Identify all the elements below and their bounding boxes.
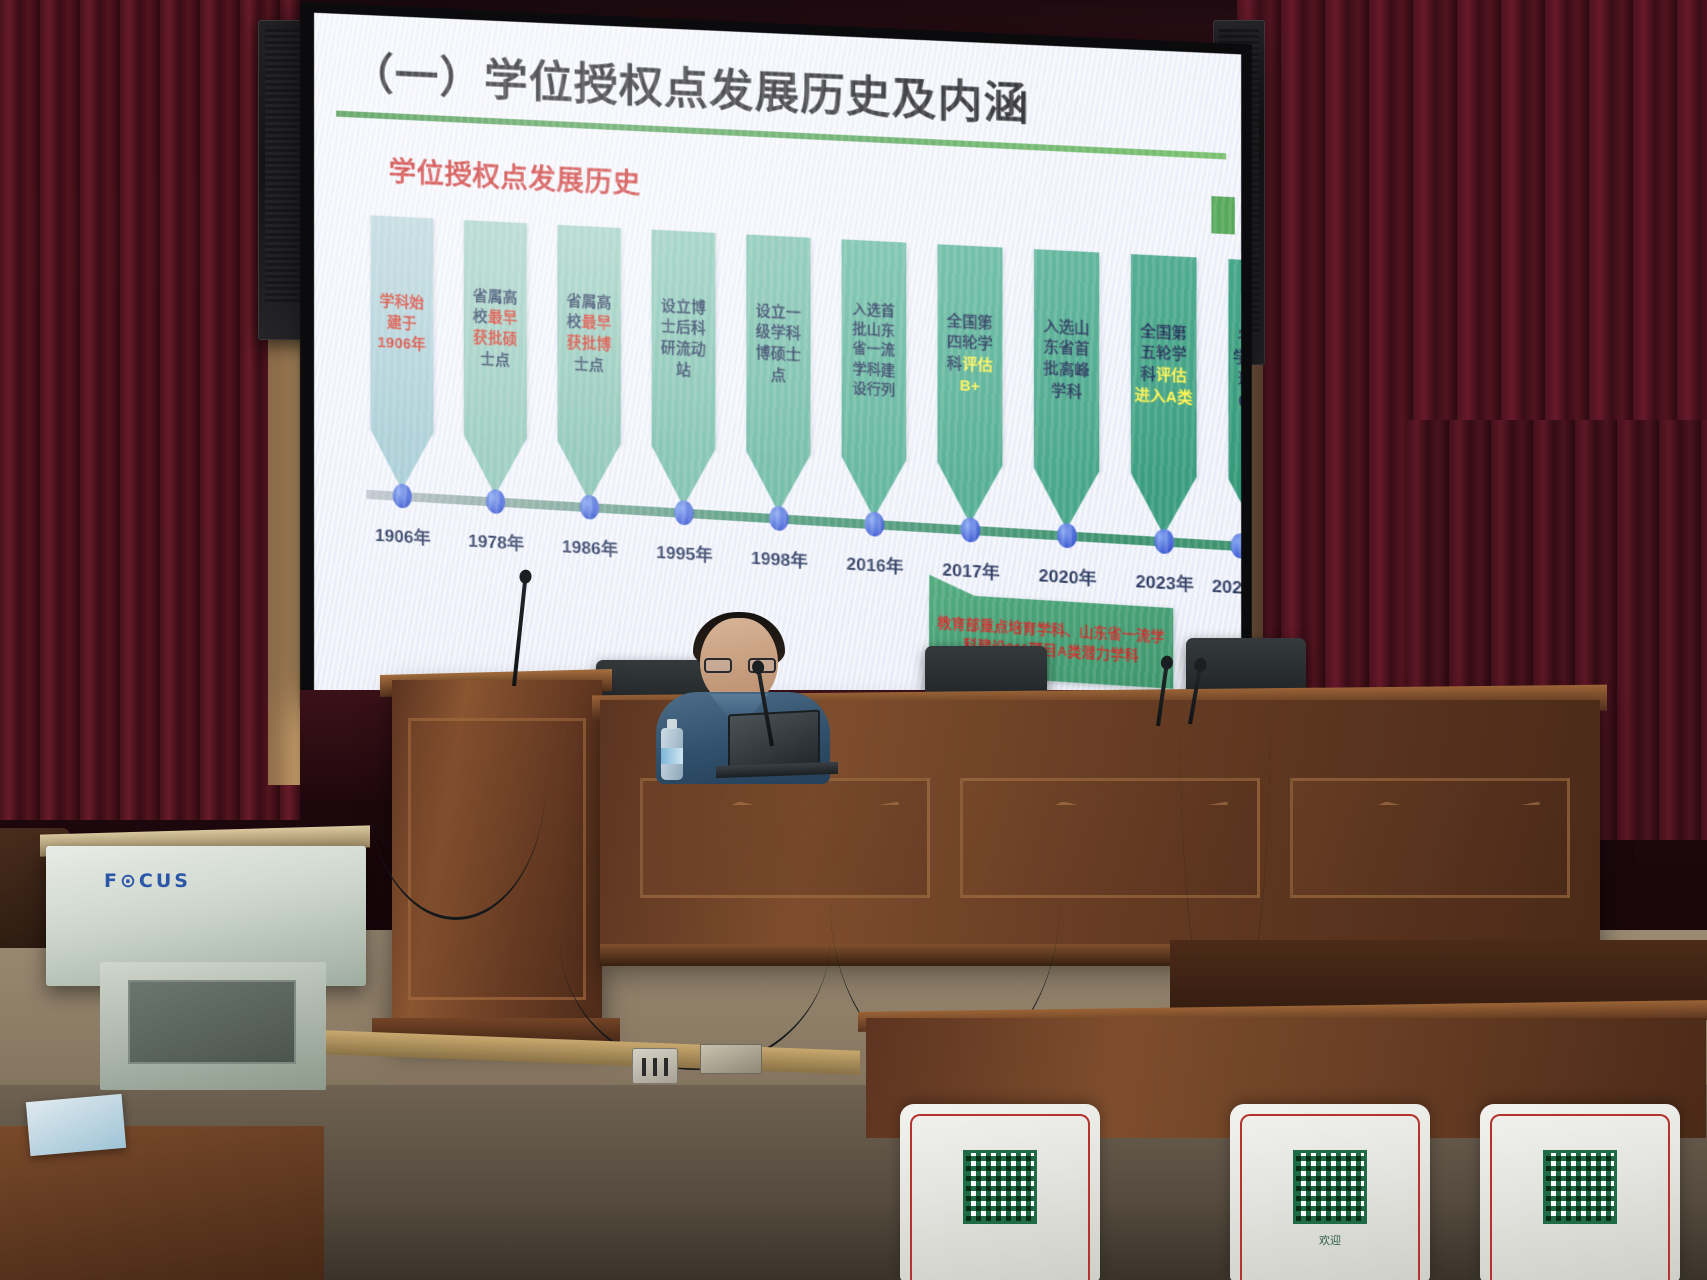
qr-code-icon [1543, 1150, 1617, 1224]
timeline-banner-1998: 设立一 级学科 博硕士 点 [746, 234, 810, 454]
qr-code-icon [963, 1150, 1037, 1224]
timeline-dot-2024 [1231, 533, 1242, 559]
banner-pointer [1034, 468, 1099, 532]
console-cabinet [100, 962, 326, 1090]
banner-pointer [371, 429, 434, 491]
banner-pointer [464, 435, 527, 498]
timeline-year-label: 1978年 [468, 526, 524, 555]
timeline-year-label: 1906年 [375, 521, 430, 550]
head-table-panel [1290, 778, 1570, 898]
qr-code-icon [1293, 1150, 1367, 1224]
audience-chair-1 [900, 1104, 1100, 1280]
timeline-dot-1998 [769, 506, 789, 532]
timeline-banner-1995: 设立博 士后科 研流动 站 [652, 230, 716, 450]
banner-text: 入选山 东省首 批高峰 学科 [1043, 316, 1089, 403]
banner-text: 农业科 学ESI全 球排名 0.92‰ [1233, 327, 1241, 416]
cabinet-door[interactable] [128, 980, 296, 1064]
panel-chevron [671, 802, 898, 832]
timeline-dot-2020 [1057, 523, 1077, 549]
banner-text: 省属高 校最早 获批博 士点 [566, 291, 611, 377]
banner-pointer [557, 440, 620, 503]
timeline-banner-2020: 入选山 东省首 批高峰 学科 [1034, 249, 1099, 471]
banner-pointer [842, 457, 907, 520]
timeline-dot-2016 [865, 511, 885, 537]
banner-text: 设立一 级学科 博硕士 点 [756, 301, 802, 388]
timeline-banner-2023: 全国第 五轮学 科评估 进入A类 [1131, 254, 1197, 477]
banner-pointer [652, 446, 716, 509]
timeline-banner-1906: 学科始 建于 1906年 [371, 215, 434, 433]
timeline-banner-2016: 入选首 批山东 省一流 学科建 设行列 [842, 239, 907, 460]
timeline-banner-2017: 全国第 四轮学 科评估 B+ [937, 244, 1002, 466]
timeline-year-label: 2016年 [846, 549, 903, 578]
timeline-year-label: 2024年 [1212, 571, 1241, 600]
timeline-year-label: 2023年 [1136, 567, 1194, 596]
timeline-dot-2017 [960, 517, 980, 543]
banner-pointer [937, 462, 1002, 525]
banner-text: 学科始 建于 1906年 [378, 292, 426, 357]
bottle-label [661, 748, 683, 764]
floor-power-outlet [632, 1048, 678, 1084]
title-rule-end-cap [1211, 196, 1234, 234]
banner-text: 入选首 批山东 省一流 学科建 设行列 [852, 299, 895, 400]
eyeglasses [704, 658, 776, 673]
banner-pointer [1131, 473, 1197, 537]
timeline-dot-1995 [674, 500, 694, 526]
water-bottle [661, 728, 683, 780]
chair-caption: 欢迎 [1319, 1232, 1341, 1248]
timeline-dot-1906 [393, 483, 412, 508]
banner-text: 全国第 四轮学 科评估 B+ [947, 311, 993, 398]
lecture-hall-photo: （一）学位授权点发展历史及内涵 学位授权点发展历史 学科始 建于 1906年 省… [0, 0, 1707, 1280]
slide-subtitle: 学位授权点发展历史 [389, 149, 641, 201]
audience-chair-3 [1480, 1104, 1680, 1280]
timeline-banner-1978: 省属高 校最早 获批硕 士点 [464, 220, 527, 438]
curtain-left [0, 0, 300, 820]
timeline-year-label: 1986年 [562, 532, 618, 561]
timeline-banner-2024: 农业科 学ESI全 球排名 0.92‰ [1228, 259, 1241, 483]
banner-text: 省属高 校最早 获批硕 士点 [473, 286, 518, 372]
audience-chair-2: 欢迎 [1230, 1104, 1430, 1280]
banner-text: 设立博 士后科 研流动 站 [661, 296, 706, 382]
timeline-dot-1986 [580, 494, 599, 520]
banner-text: 全国第 五轮学 科评估 进入A类 [1135, 321, 1193, 409]
focus-brand-logo: F⊙CUS [104, 870, 191, 892]
banner-pointer [746, 451, 810, 514]
timeline-banner-1986: 省属高 校最早 获批博 士点 [557, 225, 620, 444]
timeline-dot-1978 [486, 489, 505, 514]
book-on-desk [26, 1094, 126, 1156]
timeline-year-label: 1998年 [751, 543, 808, 572]
head-table-panel [640, 778, 930, 898]
timeline-banner-row: 学科始 建于 1906年 省属高 校最早 获批硕 士点 [371, 215, 1242, 519]
timeline-year-label: 1995年 [656, 538, 712, 567]
timeline-dot-2023 [1154, 528, 1174, 554]
timeline-year-label: 2020年 [1039, 561, 1097, 590]
laptop [728, 710, 820, 771]
floor-service-box [700, 1044, 762, 1074]
panel-chevron [1320, 802, 1539, 832]
